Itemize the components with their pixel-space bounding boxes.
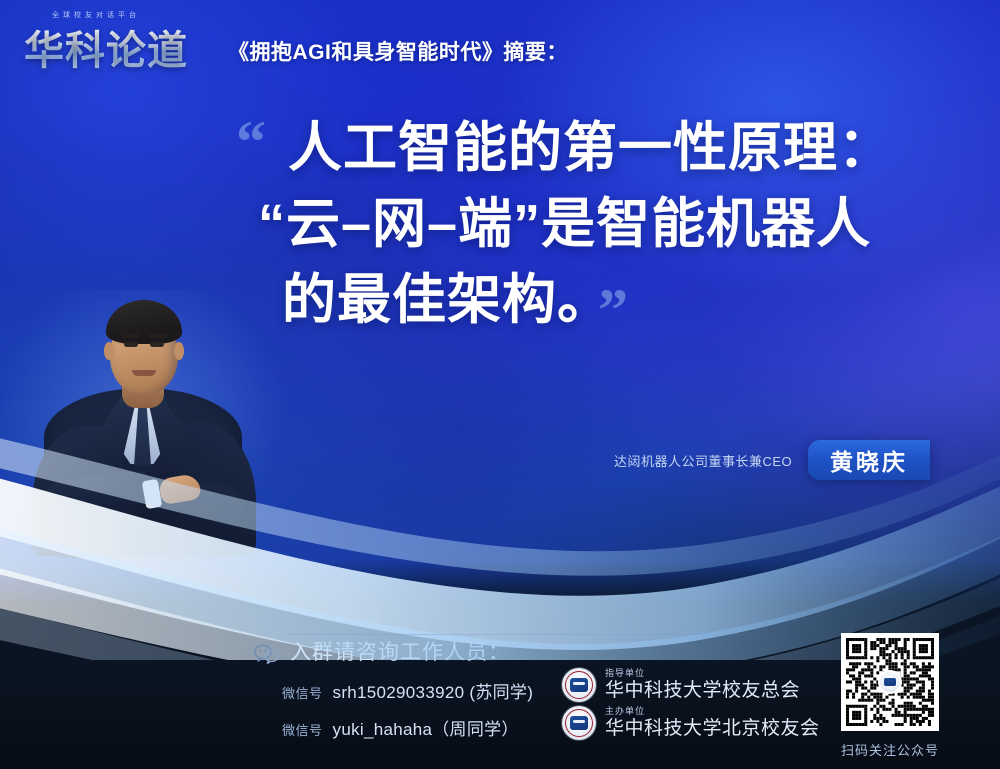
- page-title: 《拥抱AGI和具身智能时代》摘要：: [228, 36, 568, 66]
- speaker-name-badge: 黄晓庆: [808, 440, 930, 480]
- qr-center-logo-icon: [880, 672, 900, 692]
- quote-line-3: 的最佳架构。: [282, 262, 612, 338]
- poster-header: 全球校友对话平台 华科论道 《拥抱AGI和具身智能时代》摘要：: [0, 0, 1000, 90]
- quote-close-mark: ”: [598, 276, 628, 345]
- brand-logo: 全球校友对话平台 华科论道: [24, 8, 214, 70]
- speaker-name: 黄晓庆: [830, 443, 908, 477]
- portrait-brow-right: [149, 334, 166, 338]
- speaker-role: 达闼机器人公司董事长兼CEO: [614, 451, 792, 470]
- qr-caption: 扫码关注公众号: [841, 740, 939, 759]
- qr-code-block[interactable]: 扫码关注公众号: [841, 633, 939, 759]
- portrait-ear-right: [174, 342, 184, 360]
- portrait-brow-left: [122, 334, 139, 338]
- portrait-eye-left: [124, 342, 138, 347]
- qr-code[interactable]: [841, 633, 939, 731]
- portrait-mouth: [132, 370, 156, 376]
- wechat-icon: [254, 644, 280, 664]
- logo-wordmark: 华科论道: [24, 18, 188, 76]
- footer-divider: [288, 634, 788, 635]
- quote-open-mark: “: [236, 108, 266, 177]
- quote-line-2: “云–网–端”是智能机器人: [258, 186, 871, 262]
- portrait-eye-right: [150, 342, 164, 347]
- portrait-ear-left: [104, 342, 114, 360]
- promotional-poster: 全球校友对话平台 华科论道 《拥抱AGI和具身智能时代》摘要： “ 人工智能的第…: [0, 0, 1000, 769]
- quote-line-1: 人工智能的第一性原理：: [288, 110, 893, 186]
